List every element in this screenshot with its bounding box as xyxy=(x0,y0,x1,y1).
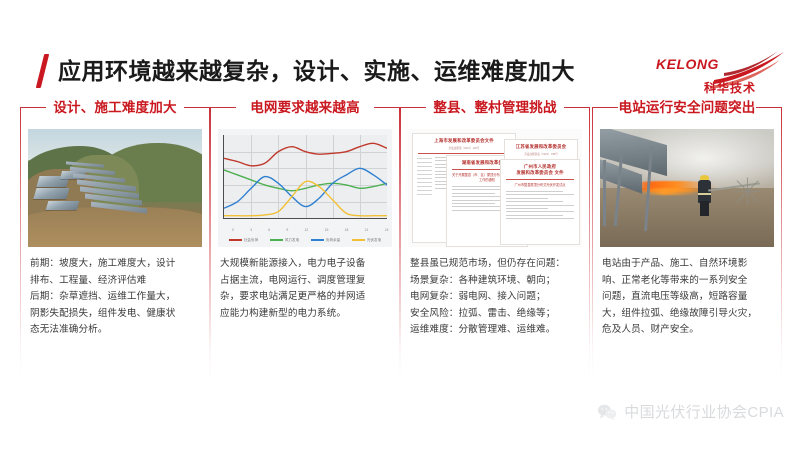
footer-label: 中国光伏行业协会CPIA xyxy=(624,401,784,422)
document-title: 广州市整县屋顶分布式光伏开发试点 xyxy=(505,183,575,188)
chart-series-lines xyxy=(224,135,387,218)
card-design-construction[interactable]: 设计、施工难度加大 xyxy=(20,98,210,383)
sprinkler-icon xyxy=(725,176,770,207)
card-body-line: 电网复杂：弱电网、接入问题； xyxy=(410,289,582,306)
legend-label: 风力发电 xyxy=(285,238,299,243)
card-body-line: 危及人员、财产安全。 xyxy=(602,322,774,339)
document-subheading: 沪发改能源〔2021〕125号 xyxy=(413,146,515,150)
card-title: 电网要求越来越高 xyxy=(210,98,400,117)
legend-swatch xyxy=(229,239,242,241)
page-title: 应用环境越来越复杂，设计、实施、运维难度加大 xyxy=(58,54,575,88)
legend-item: 光伏发电 xyxy=(352,238,381,243)
card-body-line: 大，组件拉弧、绝缘故障引导火灾， xyxy=(602,306,774,323)
cards-row: 设计、施工难度加大 xyxy=(0,98,800,388)
card-body-line: 前期：坡度大，施工难度大，设计 xyxy=(30,256,202,273)
firefighter-figure xyxy=(696,175,713,215)
card-body-line: 杂，要求电站满足更严格的并网适 xyxy=(220,289,392,306)
legend-item: 社会负荷 xyxy=(229,238,258,243)
card-body-line: 整县虽已规范市场，但仍存在问题： xyxy=(410,256,582,273)
logo-chinese-name: 科华技术 xyxy=(704,79,756,96)
card-body-line: 后期：杂草遮挡、运维工作量大， xyxy=(30,289,202,306)
card-body-line: 大规模新能源接入，电力电子设备 xyxy=(220,256,392,273)
wechat-icon xyxy=(597,404,617,420)
card-body-line: 场景复杂：各种建筑环境、朝向； xyxy=(410,273,582,290)
legend-swatch xyxy=(352,239,365,241)
card-body-line: 安全风险：拉弧、雷击、绝缘等； xyxy=(410,306,582,323)
card-plant-safety[interactable]: 电站运行安全问题突出 xyxy=(592,98,782,383)
government-documents-collage: 上海市发展和改革委员会文件 沪发改能源〔2021〕125号 湖南省发展和改革委员… xyxy=(408,129,582,247)
power-curve-chart: 03691215182124 社会负荷风力发电负荷余量光伏发电 xyxy=(218,129,392,247)
legend-swatch xyxy=(311,239,324,241)
legend-item: 风力发电 xyxy=(270,238,299,243)
document-heading: 广州市人民政府 发展和改革委员会 文件 xyxy=(501,164,579,176)
card-body: 大规模新能源接入，电力电子设备 占据主流，电网运行、调度管理复 杂，要求电站满足… xyxy=(220,256,392,322)
chart-legend: 社会负荷风力发电负荷余量光伏发电 xyxy=(223,234,387,246)
card-title: 电站运行安全问题突出 xyxy=(592,98,782,117)
card-body-line: 阴影失配损失，组件发电、健康状 xyxy=(30,306,202,323)
hillside-solar-farm-photo xyxy=(28,129,202,247)
card-body-line: 应能力构建新型的电力系统。 xyxy=(220,306,392,323)
card-body-line: 态无法准确分析。 xyxy=(30,322,202,339)
footer-watermark: 中国光伏行业协会CPIA xyxy=(597,401,784,422)
chart-plot-area xyxy=(223,135,387,219)
chart-line-风力发电 xyxy=(224,170,387,191)
legend-item: 负荷余量 xyxy=(311,238,340,243)
card-title: 整县、整村管理挑战 xyxy=(400,98,590,117)
solar-plant-fire-photo xyxy=(600,129,774,247)
document-heading: 江苏省发展和改革委员会 xyxy=(505,144,577,150)
kelong-logo: KELONG 科华技术 xyxy=(654,50,786,102)
card-body: 电站由于产品、施工、自然环境影 响、正常老化等带来的一系列安全 问题，直流电压等… xyxy=(602,256,774,339)
card-body-line: 问题，直流电压等级高，短路容量 xyxy=(602,289,774,306)
card-body: 整县虽已规范市场，但仍存在问题： 场景复杂：各种建筑环境、朝向； 电网复杂：弱电… xyxy=(410,256,582,339)
card-body-line: 运维难度：分散管理难、运维难。 xyxy=(410,322,582,339)
logo-wordmark: KELONG xyxy=(656,56,719,72)
slide-header: 应用环境越来越复杂，设计、实施、运维难度加大 KELONG 科华技术 xyxy=(0,22,800,84)
legend-label: 负荷余量 xyxy=(326,238,340,243)
document-heading: 上海市发展和改革委员会文件 xyxy=(413,138,515,144)
chart-line-光伏发电 xyxy=(224,181,387,216)
legend-label: 光伏发电 xyxy=(367,238,381,243)
legend-swatch xyxy=(270,239,283,241)
chart-line-社会负荷 xyxy=(224,143,387,166)
card-title: 设计、施工难度加大 xyxy=(20,98,210,117)
card-body-line: 响、正常老化等带来的一系列安全 xyxy=(602,273,774,290)
card-body-line: 电站由于产品、施工、自然环境影 xyxy=(602,256,774,273)
card-body-line: 占据主流，电网运行、调度管理复 xyxy=(220,273,392,290)
card-grid-requirements[interactable]: 电网要求越来越高 xyxy=(210,98,400,383)
legend-label: 社会负荷 xyxy=(244,238,258,243)
document-subheading: 苏发改能源发〔2021〕758号 xyxy=(505,152,577,156)
title-accent-slash-icon xyxy=(36,54,49,88)
card-body: 前期：坡度大，施工难度大，设计 排布、工程量、经济评估难 后期：杂草遮挡、运维工… xyxy=(30,256,202,339)
card-body-line: 排布、工程量、经济评估难 xyxy=(30,273,202,290)
card-county-village-management[interactable]: 整县、整村管理挑战 上海市发展和改革委员会文件 沪发改能源〔2021〕125号 … xyxy=(400,98,590,383)
slide-root: 应用环境越来越复杂，设计、实施、运维难度加大 KELONG 科华技术 设计、施工… xyxy=(0,0,800,450)
document-guangzhou: 广州市人民政府 发展和改革委员会 文件 广州市整县屋顶分布式光伏开发试点 xyxy=(500,159,580,245)
